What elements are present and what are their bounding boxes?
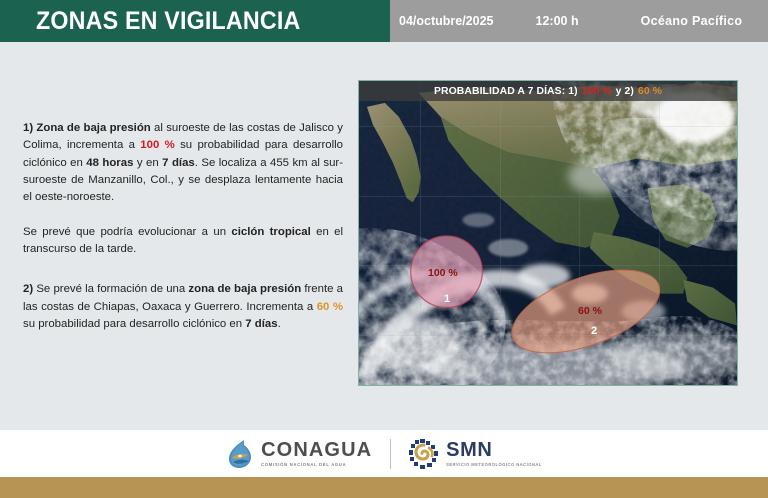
weather-bulletin-page: ZONAS EN VIGILANCIA 04/octubre/2025 12:0… — [0, 0, 768, 498]
conagua-wordmark: CONAGUA COMISIÓN NACIONAL DEL AGUA — [261, 440, 372, 468]
text-run: y en — [133, 157, 162, 169]
page-header: ZONAS EN VIGILANCIA 04/octubre/2025 12:0… — [0, 0, 768, 42]
smn-name: SMN — [446, 440, 542, 460]
conagua-logo: CONAGUA COMISIÓN NACIONAL DEL AGUA — [226, 439, 372, 469]
zone-2-probability-label: 60 % — [578, 305, 602, 317]
paragraph-zona-1: 1) Zona de baja presión al suroeste de l… — [23, 120, 343, 207]
smn-subtitle: SERVICIO METEOROLÓGICO NACIONAL — [446, 462, 542, 468]
text-run: su probabilidad para desarrollo ciclónic… — [23, 318, 245, 330]
paragraph-spacer — [23, 207, 343, 224]
banner-value-2: 60 % — [638, 86, 662, 97]
bulletin-time: 12:00 h — [536, 14, 579, 28]
text-run: . — [278, 318, 281, 330]
zone-1-number-label: 1 — [444, 293, 450, 305]
text-run: Se prevé la formación de una — [33, 283, 188, 295]
content-area: 1) Zona de baja presión al suroeste de l… — [0, 42, 768, 430]
text-run: ciclón tropical — [231, 226, 310, 238]
smn-logo: SMN SERVICIO METEOROLÓGICO NACIONAL — [409, 439, 542, 469]
zone-1-probability-label: 100 % — [428, 267, 458, 279]
logo-divider — [390, 439, 391, 469]
text-run: Se prevé que podría evolucionar a un — [23, 226, 231, 238]
conagua-name: CONAGUA — [261, 440, 372, 460]
banner-value-1: 100 % — [582, 86, 612, 97]
text-run: 1) Zona de baja presión — [23, 122, 151, 134]
text-run: 48 horas — [86, 157, 133, 169]
zone-2-number-label: 2 — [591, 325, 597, 337]
bulletin-date: 04/octubre/2025 — [399, 14, 494, 28]
paragraph-spacer — [23, 258, 343, 281]
footer-accent-bar — [0, 477, 768, 498]
paragraph-zona-2: 2) Se prevé la formación de una zona de … — [23, 281, 343, 333]
text-run: 7 días — [245, 318, 277, 330]
conagua-subtitle: COMISIÓN NACIONAL DEL AGUA — [261, 462, 372, 468]
bulletin-basin: Océano Pacífico — [641, 14, 743, 28]
banner-middle: y 2) — [616, 86, 634, 97]
banner-prefix: PROBABILIDAD A 7 DÍAS: 1) — [434, 86, 578, 97]
text-run: 7 días — [162, 157, 195, 169]
page-footer: CONAGUA COMISIÓN NACIONAL DEL AGUA — [0, 430, 768, 498]
smn-spiral-icon — [409, 439, 439, 469]
smn-wordmark: SMN SERVICIO METEOROLÓGICO NACIONAL — [446, 440, 542, 468]
text-run: 100 % — [140, 139, 174, 151]
footer-logo-row: CONAGUA COMISIÓN NACIONAL DEL AGUA — [0, 430, 768, 477]
paragraph-evolucion: Se prevé que podría evolucionar a un cic… — [23, 224, 343, 259]
header-title-block: ZONAS EN VIGILANCIA — [0, 0, 390, 42]
text-run: 2) — [23, 283, 33, 295]
text-run: 60 % — [317, 301, 343, 313]
probability-banner: PROBABILIDAD A 7 DÍAS: 1) 100 % y 2) 60 … — [359, 81, 737, 101]
satellite-imagery — [359, 81, 737, 385]
conagua-water-icon — [226, 439, 254, 469]
header-meta-block: 04/octubre/2025 12:00 h Océano Pacífico — [390, 0, 768, 42]
page-title: ZONAS EN VIGILANCIA — [36, 7, 300, 36]
satellite-map-panel[interactable]: PROBABILIDAD A 7 DÍAS: 1) 100 % y 2) 60 … — [358, 80, 738, 386]
text-run: zona de baja presión — [188, 283, 301, 295]
bulletin-text-column: 1) Zona de baja presión al suroeste de l… — [23, 120, 343, 333]
